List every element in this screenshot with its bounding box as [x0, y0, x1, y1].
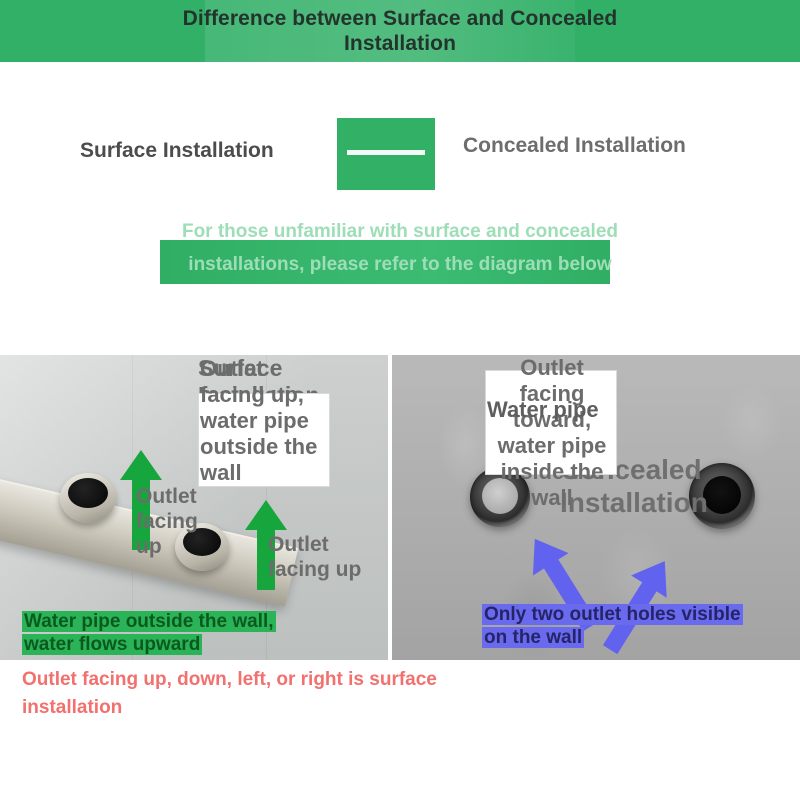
caption-right: Only two outlet holes visible on the wal…	[482, 603, 800, 649]
caption-left-line1: Water pipe outside the wall,	[22, 611, 276, 632]
infographic-page: Difference between Surface and Concealed…	[0, 0, 800, 800]
arrow-head	[245, 500, 287, 530]
concealed-installation-label: Concealed Installation	[463, 132, 693, 159]
concealed-installation-photo: Concealed Installation Outlet facing tow…	[392, 355, 800, 660]
caption-right-line2: on the wall	[482, 627, 584, 648]
subtitle-text: For those unfamiliar with surface and co…	[150, 215, 650, 281]
outlet-bore	[68, 478, 108, 508]
arrow-label-right: Outlet facing up	[268, 533, 372, 583]
pipe-outlet-left	[60, 473, 116, 523]
surface-installation-label: Surface Installation	[80, 138, 325, 164]
surface-installation-photo: Surface Installation Outlet facing up, w…	[0, 355, 388, 660]
callout-text-right: Outlet facing toward, water pipe inside …	[487, 355, 617, 511]
horizontal-divider-icon	[347, 150, 425, 155]
overlap-label-right: Water pipe	[487, 397, 617, 423]
page-title: Difference between Surface and Concealed…	[180, 6, 620, 56]
caption-left: Water pipe outside the wall, water flows…	[22, 610, 372, 656]
photo-comparison-strip: Surface Installation Outlet facing up, w…	[0, 355, 800, 660]
caption-right-line1: Only two outlet holes visible	[482, 604, 743, 625]
surface-installation-note: Outlet facing up, down, left, or right i…	[22, 666, 442, 722]
comparison-divider-badge	[337, 118, 435, 190]
subtitle-block: For those unfamiliar with surface and co…	[0, 215, 800, 310]
comparison-row: Surface Installation Concealed Installat…	[0, 110, 800, 200]
callout-text-left: Outlet facing up, water pipe outside the…	[200, 356, 332, 486]
caption-left-line2: water flows upward	[22, 634, 202, 655]
arrow-label-left: Outlet facing up	[136, 485, 206, 559]
arrow-head	[120, 450, 162, 480]
